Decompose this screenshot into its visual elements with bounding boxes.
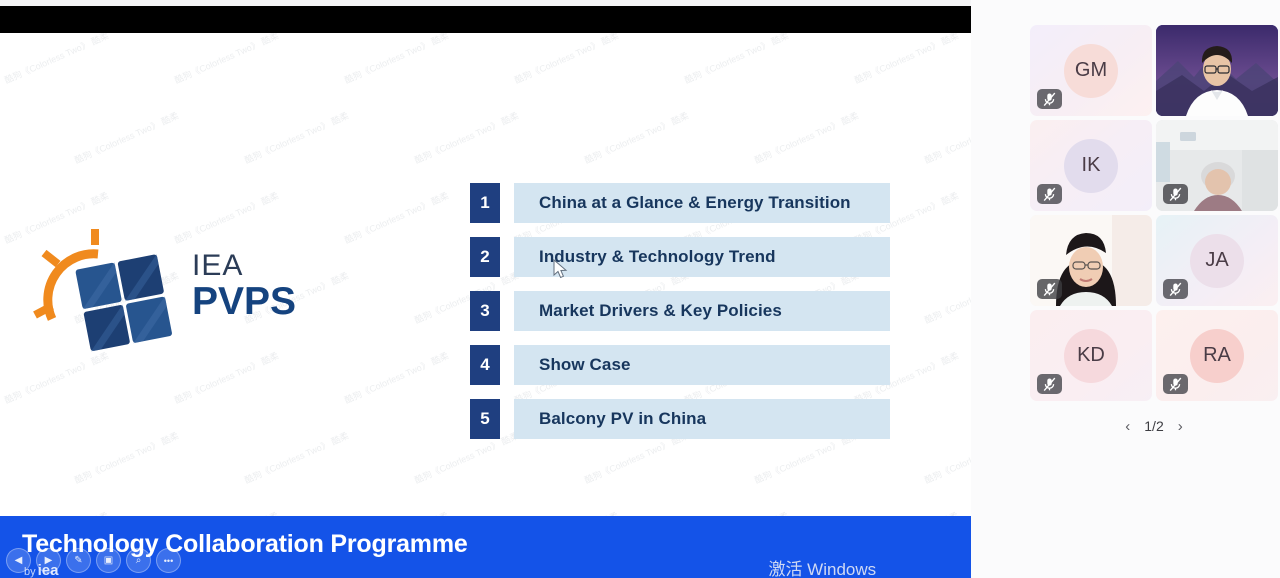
participant-mic-muted-icon[interactable]: [1163, 374, 1188, 394]
shared-slide[interactable]: 酷狗《Colorless Two》 酷柔酷狗《Colorless Two》 酷柔…: [0, 33, 971, 578]
agenda-label-bar: China at a Glance & Energy Transition: [514, 183, 890, 223]
logo-wordmark: IEA PVPS: [192, 251, 296, 321]
participant-tile[interactable]: IK: [1030, 120, 1152, 211]
sun-solar-panel-icon: [20, 223, 195, 363]
agenda-number-badge: 5: [470, 399, 500, 439]
pagination-next-icon[interactable]: ›: [1178, 418, 1183, 435]
app-root: 酷狗《Colorless Two》 酷柔酷狗《Colorless Two》 酷柔…: [0, 0, 1280, 578]
annotate-pen-button[interactable]: ✎: [66, 548, 91, 573]
layout-view-icon: ▣: [104, 555, 113, 566]
previous-slide-button[interactable]: ◀: [6, 548, 31, 573]
watermark-text: 酷狗《Colorless Two》 酷柔: [922, 429, 971, 487]
zoom-search-button[interactable]: ⌕: [126, 548, 151, 573]
agenda-label-bar: Show Case: [514, 345, 890, 385]
previous-slide-icon: ◀: [15, 555, 23, 566]
annotation-toolbar[interactable]: ◀▶✎▣⌕•••: [6, 548, 181, 573]
agenda-item-label: China at a Glance & Energy Transition: [539, 193, 851, 213]
agenda-row[interactable]: 1China at a Glance & Energy Transition: [470, 183, 890, 223]
agenda-label-bar: Balcony PV in China: [514, 399, 890, 439]
pagination-prev-icon[interactable]: ‹: [1125, 418, 1130, 435]
watermark-text: 酷狗《Colorless Two》 酷柔: [682, 33, 790, 86]
participant-avatar: RA: [1190, 329, 1244, 383]
watermark-text: 酷狗《Colorless Two》 酷柔: [342, 33, 450, 86]
participant-tile[interactable]: KD: [1030, 310, 1152, 401]
watermark-text: 酷狗《Colorless Two》 酷柔: [242, 429, 350, 487]
logo-iea-text: IEA: [192, 251, 296, 281]
watermark-text: 酷狗《Colorless Two》 酷柔: [172, 33, 280, 86]
agenda-item-label: Market Drivers & Key Policies: [539, 301, 782, 321]
watermark-text: 酷狗《Colorless Two》 酷柔: [72, 429, 180, 487]
agenda-row[interactable]: 3Market Drivers & Key Policies: [470, 291, 890, 331]
watermark-text: 酷狗《Colorless Two》 酷柔: [342, 349, 450, 407]
zoom-search-icon: ⌕: [136, 555, 142, 566]
watermark-text: 酷狗《Colorless Two》 酷柔: [242, 109, 350, 167]
agenda-row[interactable]: 4Show Case: [470, 345, 890, 385]
windows-activation-watermark: 激活 Windows 转到"设置"以激活 Windows。: [768, 555, 925, 578]
agenda-number-badge: 2: [470, 237, 500, 277]
agenda-label-bar: Industry & Technology Trend: [514, 237, 890, 277]
agenda-item-label: Balcony PV in China: [539, 409, 706, 429]
participant-mic-muted-icon[interactable]: [1037, 279, 1062, 299]
agenda-item-label: Show Case: [539, 355, 631, 375]
watermark-text: 酷狗《Colorless Two》 酷柔: [922, 109, 971, 167]
participant-tile[interactable]: [1030, 215, 1152, 306]
agenda-item-label: Industry & Technology Trend: [539, 247, 776, 267]
participant-avatar: IK: [1064, 139, 1118, 193]
agenda-row[interactable]: 5Balcony PV in China: [470, 399, 890, 439]
participant-tile[interactable]: RA: [1156, 310, 1278, 401]
mouse-cursor: [553, 259, 569, 281]
agenda-number-badge: 3: [470, 291, 500, 331]
participant-avatar: JA: [1190, 234, 1244, 288]
watermark-text: 酷狗《Colorless Two》 酷柔: [852, 33, 960, 86]
participant-avatar: GM: [1064, 44, 1118, 98]
participant-mic-muted-icon[interactable]: [1037, 184, 1062, 204]
participant-sidebar: GMIKJAKDRA ‹ 1/2 › PC: [971, 0, 1280, 578]
watermark-text: 酷狗《Colorless Two》 酷柔: [342, 189, 450, 247]
participant-mic-muted-icon[interactable]: [1037, 89, 1062, 109]
participant-video-feed: [1156, 25, 1278, 116]
participant-mic-muted-icon[interactable]: [1037, 374, 1062, 394]
agenda-number-badge: 1: [470, 183, 500, 223]
annotate-pen-icon: ✎: [74, 555, 82, 566]
agenda-label-bar: Market Drivers & Key Policies: [514, 291, 890, 331]
more-options-icon: •••: [164, 556, 173, 566]
participant-mic-muted-icon[interactable]: [1163, 279, 1188, 299]
participant-tile[interactable]: [1156, 120, 1278, 211]
logo-pvps-text: PVPS: [192, 282, 296, 321]
participant-tile[interactable]: GM: [1030, 25, 1152, 116]
watermark-text: 酷狗《Colorless Two》 酷柔: [752, 109, 860, 167]
watermark-text: 酷狗《Colorless Two》 酷柔: [922, 269, 971, 327]
agenda-row[interactable]: 2Industry & Technology Trend: [470, 237, 890, 277]
participant-pagination[interactable]: ‹ 1/2 ›: [1028, 408, 1280, 444]
watermark-text: 酷狗《Colorless Two》 酷柔: [582, 109, 690, 167]
participant-avatar: KD: [1064, 329, 1118, 383]
layout-view-button[interactable]: ▣: [96, 548, 121, 573]
watermark-text: 酷狗《Colorless Two》 酷柔: [512, 33, 620, 86]
watermark-text: 酷狗《Colorless Two》 酷柔: [2, 33, 110, 86]
watermark-text: 酷狗《Colorless Two》 酷柔: [72, 109, 180, 167]
screen-share-letterbox: [0, 6, 971, 33]
next-slide-icon: ▶: [45, 555, 53, 566]
participant-mic-muted-icon[interactable]: [1163, 184, 1188, 204]
activation-title: 激活 Windows: [768, 555, 925, 578]
pagination-label: 1/2: [1144, 418, 1163, 434]
participant-grid: GMIKJAKDRA: [1028, 25, 1280, 405]
next-slide-button[interactable]: ▶: [36, 548, 61, 573]
more-options-button[interactable]: •••: [156, 548, 181, 573]
participant-tile[interactable]: JA: [1156, 215, 1278, 306]
agenda-number-badge: 4: [470, 345, 500, 385]
watermark-text: 酷狗《Colorless Two》 酷柔: [412, 109, 520, 167]
participant-tile[interactable]: [1156, 25, 1278, 116]
agenda-list: 1China at a Glance & Energy Transition2I…: [470, 183, 890, 453]
iea-pvps-logo: IEA PVPS: [20, 223, 300, 363]
